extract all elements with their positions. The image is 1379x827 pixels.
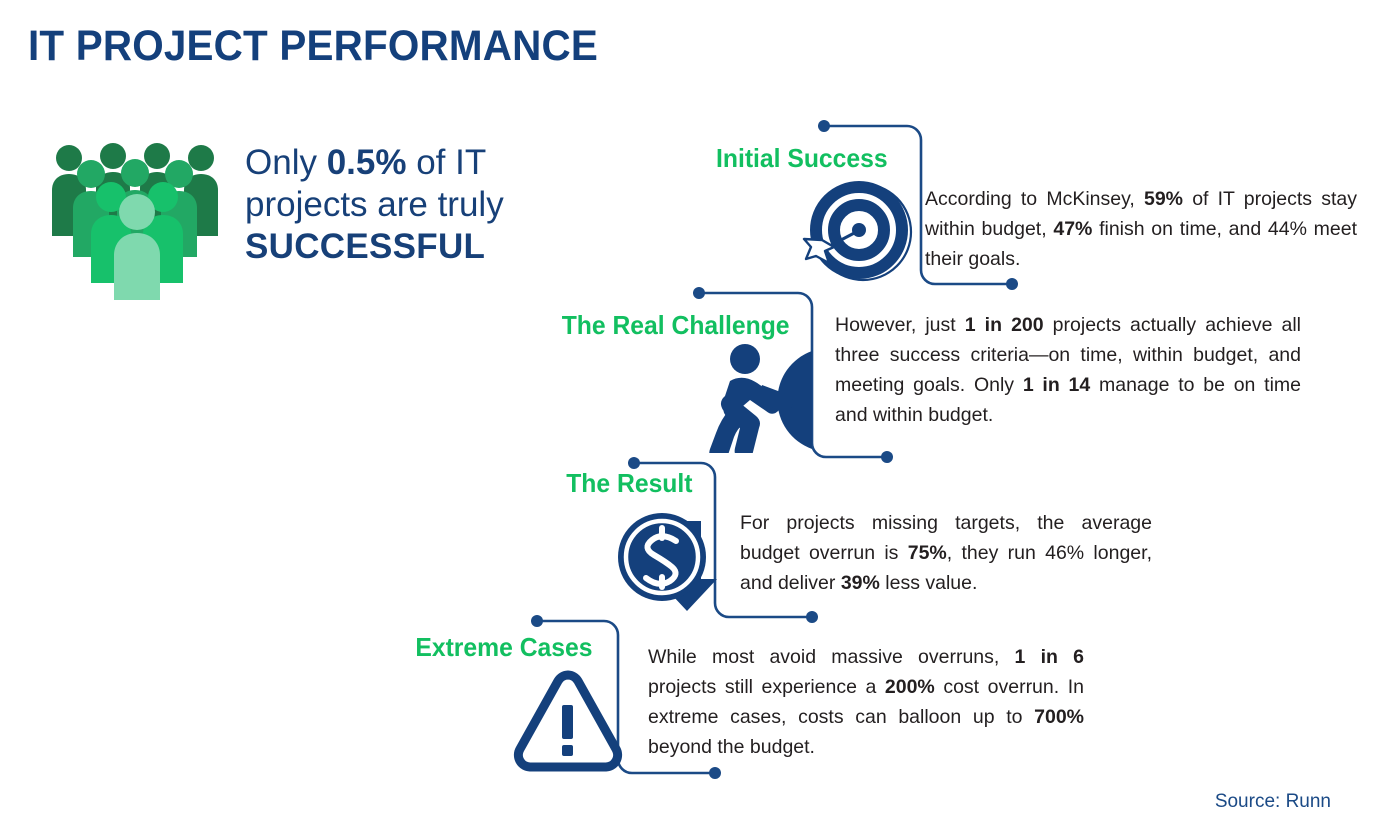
section-heading-extreme-cases: Extreme Cases — [308, 632, 593, 663]
section-heading-initial-success: Initial Success — [607, 143, 887, 174]
hero-stat: 0.5% — [327, 143, 407, 182]
person-pushing-boulder-icon — [700, 335, 820, 458]
section-heading-the-result: The Result — [408, 468, 693, 499]
connector-dot-start — [531, 615, 543, 627]
body-stat: 47% — [1053, 218, 1092, 240]
body-stat: 75% — [908, 542, 947, 564]
body-text: projects still experience a — [648, 676, 885, 698]
body-stat: 200% — [885, 676, 935, 698]
hero-line1-suffix: of IT — [406, 143, 486, 182]
page-title: IT PROJECT PERFORMANCE — [28, 22, 598, 71]
body-stat: 59% — [1144, 188, 1183, 210]
connector-dot-end — [881, 451, 893, 463]
connector-dot-start — [693, 287, 705, 299]
source-attribution: Source: Runn — [1215, 791, 1331, 813]
hero-line2: projects are truly — [245, 185, 504, 224]
body-stat: 1 in 14 — [1023, 374, 1090, 396]
connector-dot-end — [806, 611, 818, 623]
target-arrow-icon — [800, 179, 918, 296]
body-text: According to McKinsey, — [925, 188, 1144, 210]
connector-dot-end — [709, 767, 721, 779]
body-stat: 1 in 200 — [965, 314, 1044, 336]
body-text: beyond the budget. — [648, 736, 815, 758]
connector-dot-end — [1006, 278, 1018, 290]
connector-dot-start — [818, 120, 830, 132]
dollar-coin-down-arrow-icon — [615, 505, 725, 622]
warning-triangle-icon — [508, 665, 628, 782]
people-crowd-icon — [45, 140, 235, 300]
section-body-extreme-cases: While most avoid massive overruns, 1 in … — [648, 642, 1084, 762]
body-text: less value. — [880, 572, 978, 594]
hero-line3: SUCCESSFUL — [245, 227, 485, 266]
hero-line1-prefix: Only — [245, 143, 327, 182]
body-text: However, just — [835, 314, 965, 336]
section-body-the-result: For projects missing targets, the averag… — [740, 508, 1152, 598]
infographic-canvas: IT PROJECT PERFORMANCE — [0, 0, 1379, 827]
body-text: While most avoid massive overruns, — [648, 646, 1015, 668]
body-stat: 700% — [1034, 706, 1084, 728]
body-stat: 1 in 6 — [1015, 646, 1084, 668]
hero-statement: Only 0.5% of IT projects are truly SUCCE… — [245, 142, 575, 268]
section-body-initial-success: According to McKinsey, 59% of IT project… — [925, 184, 1357, 274]
body-stat: 39% — [841, 572, 880, 594]
section-body-the-real-challenge: However, just 1 in 200 projects actually… — [835, 310, 1301, 430]
